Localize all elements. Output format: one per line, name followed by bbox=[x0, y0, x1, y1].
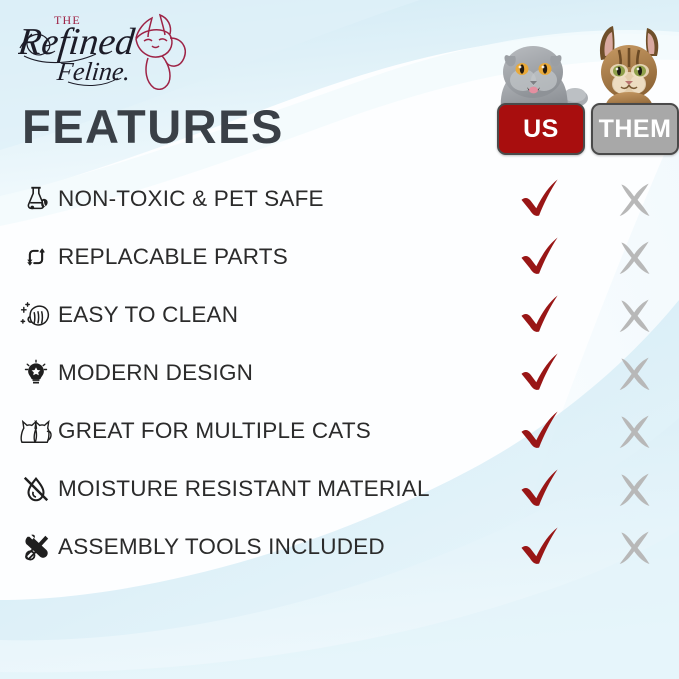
feature-label: GREAT FOR MULTIPLE CATS bbox=[58, 418, 371, 444]
page-title: FEATURES bbox=[22, 103, 284, 150]
feature-row: NON-TOXIC & PET SAFE bbox=[0, 170, 679, 228]
comparison-column-headers: US THEM bbox=[497, 103, 679, 155]
recycle-arrows-icon bbox=[16, 237, 56, 277]
us-check-mark bbox=[513, 230, 567, 284]
feature-label: ASSEMBLY TOOLS INCLUDED bbox=[58, 534, 385, 560]
them-cross-mark bbox=[608, 346, 662, 400]
column-header-them-label: THEM bbox=[599, 115, 672, 144]
us-check-mark bbox=[513, 346, 567, 400]
gray-cat-image bbox=[501, 46, 588, 110]
us-check-mark bbox=[513, 520, 567, 574]
wrench-screwdriver-icon bbox=[16, 527, 56, 567]
feature-label: MOISTURE RESISTANT MATERIAL bbox=[58, 476, 430, 502]
feature-row: ASSEMBLY TOOLS INCLUDED bbox=[0, 518, 679, 576]
feature-row: EASY TO CLEAN bbox=[0, 286, 679, 344]
feature-label: NON-TOXIC & PET SAFE bbox=[58, 186, 324, 212]
column-header-us-label: US bbox=[523, 115, 559, 144]
brand-logo[interactable]: THE Refined Feline. bbox=[18, 8, 190, 90]
brand-logo-artwork: THE Refined Feline. bbox=[18, 8, 190, 90]
logo-cat-icon bbox=[136, 15, 185, 89]
feature-label: EASY TO CLEAN bbox=[58, 302, 238, 328]
features-list: NON-TOXIC & PET SAFE bbox=[0, 170, 679, 576]
wiping-hand-sparkle-icon bbox=[16, 295, 56, 335]
feature-row: REPLACABLE PARTS bbox=[0, 228, 679, 286]
them-cross-mark bbox=[608, 520, 662, 574]
column-header-them[interactable]: THEM bbox=[591, 103, 679, 155]
us-check-mark bbox=[513, 462, 567, 516]
them-cross-mark bbox=[608, 404, 662, 458]
them-cross-mark bbox=[608, 230, 662, 284]
lightbulb-star-icon bbox=[16, 353, 56, 393]
column-header-us[interactable]: US bbox=[497, 103, 585, 155]
feature-label: REPLACABLE PARTS bbox=[58, 244, 288, 270]
features-comparison-infographic: THE Refined Feline. bbox=[0, 0, 679, 679]
two-cats-icon bbox=[16, 411, 56, 451]
them-cross-mark bbox=[608, 172, 662, 226]
feature-row: MODERN DESIGN bbox=[0, 344, 679, 402]
them-cross-mark bbox=[608, 462, 662, 516]
us-check-mark bbox=[513, 172, 567, 226]
water-drop-slash-icon bbox=[16, 469, 56, 509]
header-cat-images bbox=[489, 24, 679, 110]
feature-label: MODERN DESIGN bbox=[58, 360, 253, 386]
feature-row: GREAT FOR MULTIPLE CATS bbox=[0, 402, 679, 460]
tabby-cat-image bbox=[600, 26, 658, 110]
them-cross-mark bbox=[608, 288, 662, 342]
us-check-mark bbox=[513, 288, 567, 342]
feature-row: MOISTURE RESISTANT MATERIAL bbox=[0, 460, 679, 518]
logo-feline-text: Feline. bbox=[55, 57, 132, 86]
flask-leaf-icon bbox=[16, 179, 56, 219]
us-check-mark bbox=[513, 404, 567, 458]
